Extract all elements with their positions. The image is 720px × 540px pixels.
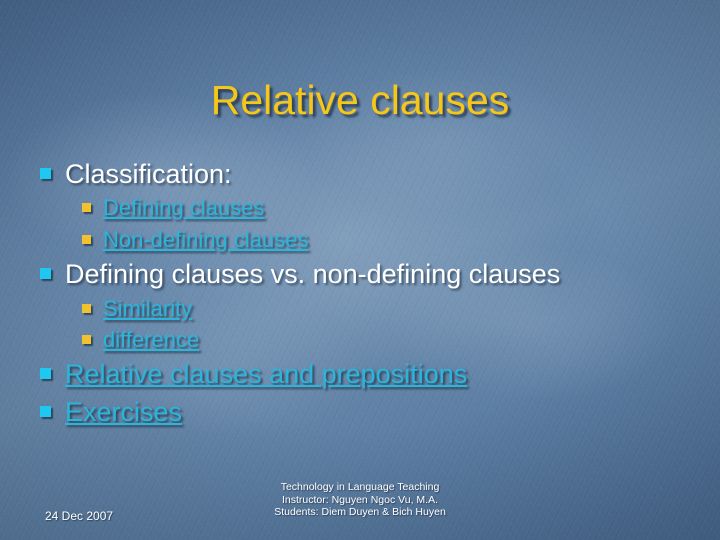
hyperlink-non-defining-clauses[interactable]: Non-defining clauses [103,227,308,253]
slide-title: Relative clauses [211,79,510,122]
outline-item-defining-vs-non-defining: Defining clauses vs. non-defining clause… [36,258,696,290]
hyperlink-relative-clauses-and-prepositions[interactable]: Relative clauses and prepositions [65,358,467,390]
outline-item-exercises[interactable]: Exercises [36,396,696,428]
outline-item-difference[interactable]: difference [36,327,696,353]
outline-item-label: Defining clauses vs. non-defining clause… [65,258,560,290]
slide-title-area: Relative clauses [0,52,720,150]
bullet-square-level1-icon [40,168,51,179]
hyperlink-difference[interactable]: difference [103,327,199,353]
outline-item-label: Classification: [65,158,232,190]
bullet-square-level1-icon [40,406,51,417]
outline-item-non-defining-clauses[interactable]: Non-defining clauses [36,227,696,253]
bullet-square-level2-icon [82,335,91,344]
outline-item-classification: Classification: [36,158,696,190]
outline-item-similarity[interactable]: Similarity [36,296,696,322]
hyperlink-defining-clauses[interactable]: Defining clauses [103,195,264,221]
presentation-slide: Relative clauses Classification: Definin… [0,0,720,540]
hyperlink-exercises[interactable]: Exercises [65,396,182,428]
footer-instructor-line: Instructor: Nguyen Ngoc Vu, M.A. [0,494,720,507]
footer-course-line: Technology in Language Teaching [0,481,720,494]
outline-item-relative-clauses-and-prepositions[interactable]: Relative clauses and prepositions [36,358,696,390]
hyperlink-similarity[interactable]: Similarity [103,296,192,322]
bullet-square-level1-icon [40,268,51,279]
bullet-square-level2-icon [82,203,91,212]
bullet-square-level1-icon [40,368,51,379]
slide-date: 24 Dec 2007 [45,509,113,523]
slide-outline-list: Classification: Defining clauses Non-def… [36,158,696,433]
bullet-square-level2-icon [82,304,91,313]
bullet-square-level2-icon [82,235,91,244]
outline-item-defining-clauses[interactable]: Defining clauses [36,195,696,221]
